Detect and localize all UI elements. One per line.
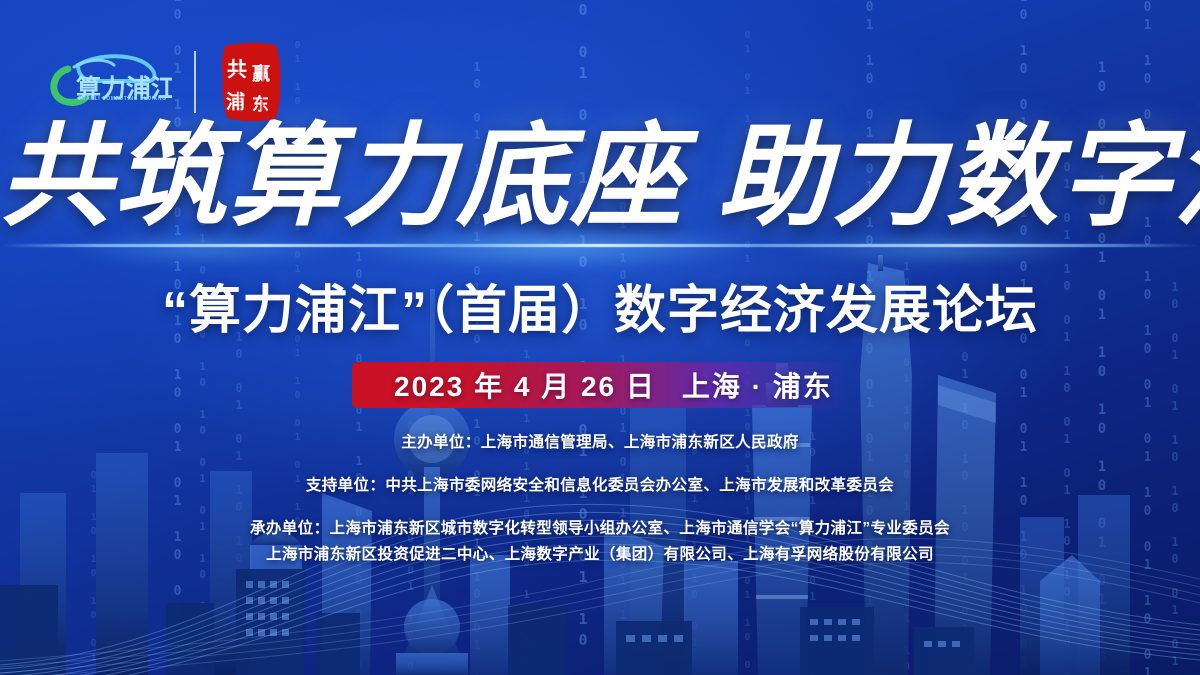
forum-subtitle: “算力浦江”（首届）数字经济发展论坛 (0, 268, 1200, 343)
support-value: 中共上海市委网络安全和信息化委员会办公室、上海市发展和改革委员会 (385, 477, 894, 494)
calligraphy-headline: 共筑算力底座助力数字浦东 (0, 122, 1200, 234)
undertake-value: 上海市浦东新区城市数字化转型领导小组办公室、上海市通信学会“算力浦江”专业委员会 (330, 520, 951, 537)
light-streak (0, 244, 1200, 247)
svg-text:共: 共 (227, 58, 247, 81)
undertake-label: 承办单位： (250, 520, 330, 537)
event-date: 2023 年 4 月 26 日 (394, 371, 656, 402)
organizer-line-undertake-cont: 上海市浦东新区投资促进二中心、上海数字产业（集团）有限公司、上海有孚网络股份有限… (0, 542, 1200, 564)
organizer-line-host: 主办单位：上海市通信管理局、上海市浦东新区人民政府 (0, 430, 1200, 452)
banner-text: 2023 年 4 月 26 日上海 · 浦东 (352, 365, 833, 405)
poster-header: 算力浦江 SUANLI COMPUTING PUJIANG 共 赢 浦 东 (44, 40, 284, 124)
organizer-line-support: 支持单位：中共上海市委网络安全和信息化委员会办公室、上海市发展和改革委员会 (0, 473, 1200, 495)
svg-text:东: 东 (252, 94, 269, 114)
event-location: 上海 · 浦东 (682, 371, 833, 402)
host-value: 上海市通信管理局、上海市浦东新区人民政府 (481, 434, 799, 451)
organizer-block: 主办单位：上海市通信管理局、上海市浦东新区人民政府 支持单位：中共上海市委网络安… (0, 430, 1200, 564)
host-label: 主办单位： (401, 434, 481, 451)
calligraphy-line-2: 助力数字浦东 (718, 116, 1200, 240)
support-label: 支持单位： (306, 477, 386, 494)
organizer-line-undertake: 承办单位：上海市浦东新区城市数字化转型领导小组办公室、上海市通信学会“算力浦江”… (0, 516, 1200, 538)
gongying-pudong-seal: 共 赢 浦 东 (218, 40, 284, 124)
suanli-pujiang-logo: 算力浦江 SUANLI COMPUTING PUJIANG (44, 51, 172, 113)
conference-poster: 10 01 10 01 01 10 10 10 01 01 10 01 10 0… (0, 0, 1200, 675)
calligraphy-line-1: 共筑算力底座 (0, 116, 684, 240)
header-divider (194, 51, 196, 113)
svg-text:赢: 赢 (252, 63, 270, 84)
svg-text:浦: 浦 (226, 90, 245, 113)
undertake-cont-value: 上海市浦东新区投资促进二中心、上海数字产业（集团）有限公司、上海有孚网络股份有限… (266, 546, 934, 563)
date-location-banner: 2023 年 4 月 26 日上海 · 浦东 (352, 362, 852, 408)
logo-subtext: SUANLI COMPUTING PUJIANG (78, 96, 167, 102)
